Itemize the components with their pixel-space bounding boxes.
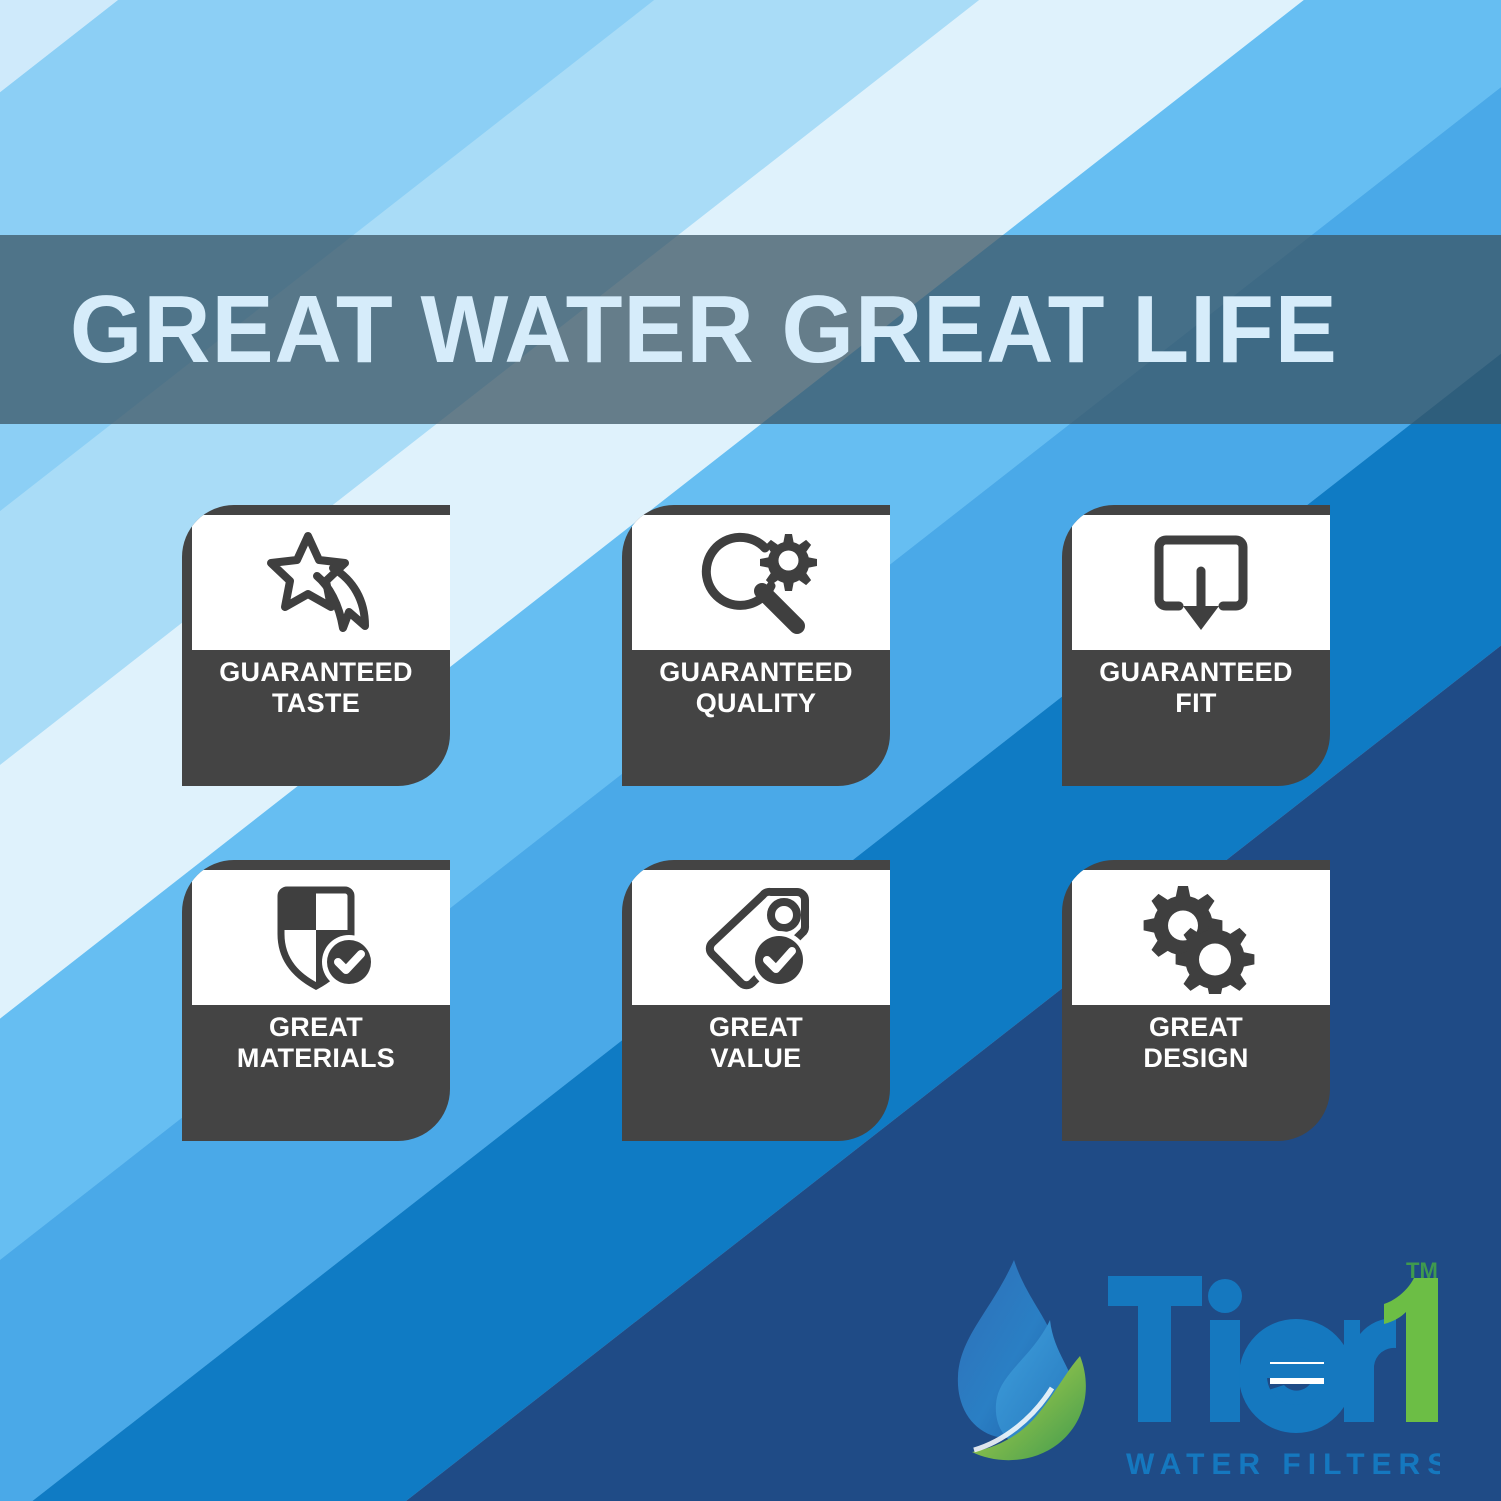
- feature-card-guaranteed-fit[interactable]: GUARANTEED FIT: [1062, 505, 1330, 786]
- feature-card-label: GREAT VALUE: [622, 1012, 890, 1074]
- price-tag-check-icon: [632, 870, 890, 1005]
- feature-card-great-value[interactable]: GREAT VALUE: [622, 860, 890, 1141]
- two-gears-icon: [1072, 870, 1330, 1005]
- logo-tagline: WATER FILTERS: [1126, 1448, 1440, 1481]
- feature-card-label: GREAT DESIGN: [1062, 1012, 1330, 1074]
- feature-card-guaranteed-taste[interactable]: GUARANTEED TASTE: [182, 505, 450, 786]
- feature-card-label: GUARANTEED TASTE: [182, 657, 450, 719]
- flame-droplet-leaf-icon: [958, 1260, 1086, 1460]
- trademark-symbol: TM: [1406, 1258, 1438, 1283]
- insert-down-arrow-icon: [1072, 515, 1330, 650]
- feature-card-label: GUARANTEED QUALITY: [622, 657, 890, 719]
- feature-card-grid: GUARANTEED TASTE GUARANTEED QUALITY: [182, 505, 1332, 1141]
- logo-numeral: [1384, 1278, 1438, 1422]
- page-title: GREAT WATER GREAT LIFE: [0, 282, 1338, 378]
- logo-wordmark: [1108, 1276, 1396, 1422]
- poster: GREAT WATER GREAT LIFE GUARANTEED TASTE: [0, 0, 1501, 1501]
- feature-card-great-design[interactable]: GREAT DESIGN: [1062, 860, 1330, 1141]
- header-banner: GREAT WATER GREAT LIFE: [0, 235, 1501, 424]
- feature-card-label: GUARANTEED FIT: [1062, 657, 1330, 719]
- feature-card-great-materials[interactable]: GREAT MATERIALS: [182, 860, 450, 1141]
- feature-card-label: GREAT MATERIALS: [182, 1012, 450, 1074]
- magnifier-gear-icon: [632, 515, 890, 650]
- tier1-logo: TM WATER FILTERS: [940, 1252, 1440, 1484]
- feature-card-guaranteed-quality[interactable]: GUARANTEED QUALITY: [622, 505, 890, 786]
- shield-check-icon: [192, 870, 450, 1005]
- shooting-star-icon: [192, 515, 450, 650]
